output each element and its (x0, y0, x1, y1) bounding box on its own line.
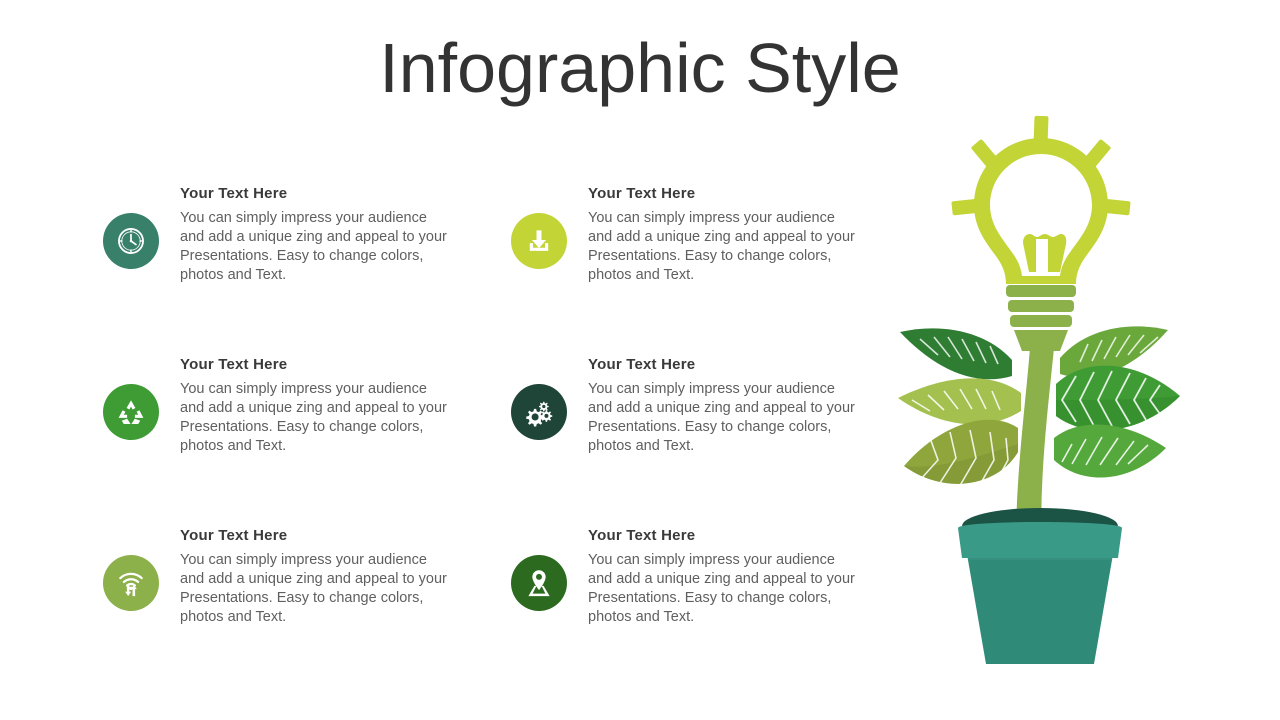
gears-icon (522, 395, 556, 429)
info-item-download[interactable]: Your Text Here You can simply impress yo… (503, 185, 843, 310)
info-item-text: Your Text Here You can simply impress yo… (180, 356, 460, 456)
clock-icon-badge[interactable] (103, 213, 159, 269)
info-item-heading: Your Text Here (588, 185, 868, 204)
lightbulb-plant-svg (890, 108, 1190, 668)
info-item-text: Your Text Here You can simply impress yo… (588, 527, 868, 627)
map-pin-icon-badge[interactable] (511, 555, 567, 611)
info-item-body: You can simply impress your audience and… (588, 551, 863, 628)
info-item-heading: Your Text Here (180, 185, 460, 204)
info-item-body: You can simply impress your audience and… (180, 551, 455, 628)
recycle-icon-badge[interactable] (103, 384, 159, 440)
info-item-text: Your Text Here You can simply impress yo… (180, 527, 460, 627)
map-pin-icon (522, 566, 556, 600)
info-item-recycle[interactable]: Your Text Here You can simply impress yo… (95, 356, 435, 481)
info-item-body: You can simply impress your audience and… (180, 380, 455, 457)
items-grid: Your Text Here You can simply impress yo… (95, 185, 895, 655)
info-item-wifi[interactable]: Your Text Here You can simply impress yo… (95, 527, 435, 652)
download-icon-badge[interactable] (511, 213, 567, 269)
info-item-text: Your Text Here You can simply impress yo… (180, 185, 460, 285)
info-item-clock[interactable]: Your Text Here You can simply impress yo… (95, 185, 435, 310)
page-title: Infographic Style (0, 28, 1280, 109)
info-item-text: Your Text Here You can simply impress yo… (588, 185, 868, 285)
clock-icon (114, 224, 148, 258)
info-item-location[interactable]: Your Text Here You can simply impress yo… (503, 527, 843, 652)
info-item-heading: Your Text Here (588, 356, 868, 375)
recycle-icon (114, 395, 148, 429)
info-item-body: You can simply impress your audience and… (180, 209, 455, 286)
info-item-text: Your Text Here You can simply impress yo… (588, 356, 868, 456)
info-item-heading: Your Text Here (180, 527, 460, 546)
info-item-gears[interactable]: Your Text Here You can simply impress yo… (503, 356, 843, 481)
wifi-transfer-icon (114, 566, 148, 600)
lightbulb-plant-illustration (890, 108, 1190, 668)
info-item-heading: Your Text Here (180, 356, 460, 375)
wifi-transfer-icon-badge[interactable] (103, 555, 159, 611)
gears-icon-badge[interactable] (511, 384, 567, 440)
bulb-screw-base-icon (1006, 285, 1076, 351)
info-item-body: You can simply impress your audience and… (588, 209, 863, 286)
download-icon (522, 224, 556, 258)
info-item-heading: Your Text Here (588, 527, 868, 546)
info-item-body: You can simply impress your audience and… (588, 380, 863, 457)
flower-pot-icon (958, 508, 1122, 664)
